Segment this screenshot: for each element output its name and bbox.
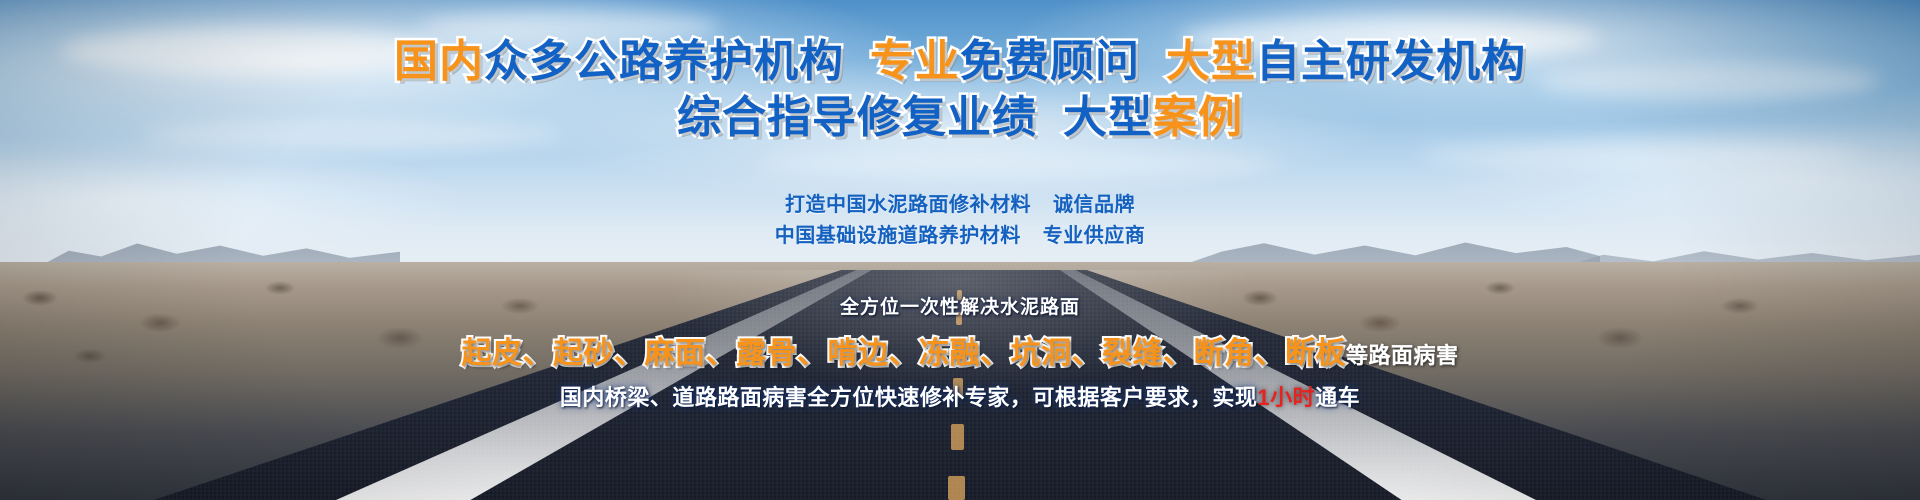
subtitle-brand-material: 打造中国水泥路面修补材料 [785, 194, 1031, 216]
subtitle-supplier: 专业供应商 [1043, 225, 1146, 247]
hero-seg-professional: 专业 [870, 37, 960, 86]
hero-headline: 国内众多公路养护机构专业免费顾问大型自主研发机构 综合指导修复业绩大型案例 [0, 38, 1920, 141]
banner-content: 国内众多公路养护机构专业免费顾问大型自主研发机构 综合指导修复业绩大型案例 打造… [0, 0, 1920, 500]
hero-seg-agencies: 众多公路养护机构 [484, 37, 844, 86]
lower-headline: 全方位一次性解决水泥路面 [0, 292, 1920, 319]
hero-seg-cases: 案例 [1153, 93, 1243, 142]
subtitle-trusted-brand: 诚信品牌 [1053, 194, 1135, 216]
hero-seg-rnd: 自主研发机构 [1256, 37, 1526, 86]
subtitle-block: 打造中国水泥路面修补材料诚信品牌 中国基础设施道路养护材料专业供应商 [0, 190, 1920, 252]
damage-types: 起皮、起砂、麻面、露骨、啃边、冻融、坑洞、裂缝、断角、断板 [461, 337, 1346, 370]
subtitle-infrastructure-material: 中国基础设施道路养护材料 [775, 225, 1021, 247]
hero-seg-guidance: 综合指导修复业绩 [677, 93, 1037, 142]
lower-message-block: 全方位一次性解决水泥路面 起皮、起砂、麻面、露骨、啃边、冻融、坑洞、裂缝、断角、… [0, 292, 1920, 412]
damage-types-suffix: 等路面病害 [1346, 343, 1459, 368]
hero-seg-large-scale: 大型 [1166, 37, 1256, 86]
subtitle-line-2: 中国基础设施道路养护材料专业供应商 [0, 221, 1920, 252]
hero-seg-large: 大型 [1063, 93, 1153, 142]
closing-text-b: 通车 [1315, 385, 1360, 410]
lower-closing-claim: 国内桥梁、道路路面病害全方位快速修补专家，可根据客户要求，实现1小时通车 [0, 380, 1920, 412]
hero-headline-line-2: 综合指导修复业绩大型案例 [0, 94, 1920, 142]
hero-headline-line-1: 国内众多公路养护机构专业免费顾问大型自主研发机构 [0, 38, 1920, 86]
lower-damage-list: 起皮、起砂、麻面、露骨、啃边、冻融、坑洞、裂缝、断角、断板等路面病害 [0, 328, 1920, 372]
promotional-banner: 国内众多公路养护机构专业免费顾问大型自主研发机构 综合指导修复业绩大型案例 打造… [0, 0, 1920, 500]
hero-seg-free-consult: 免费顾问 [960, 37, 1140, 86]
closing-text-a: 国内桥梁、道路路面病害全方位快速修补专家，可根据客户要求，实现 [560, 385, 1258, 410]
subtitle-line-1: 打造中国水泥路面修补材料诚信品牌 [0, 190, 1920, 221]
closing-highlight-one-hour: 1小时 [1257, 385, 1315, 410]
hero-seg-domestic: 国内 [394, 37, 484, 86]
